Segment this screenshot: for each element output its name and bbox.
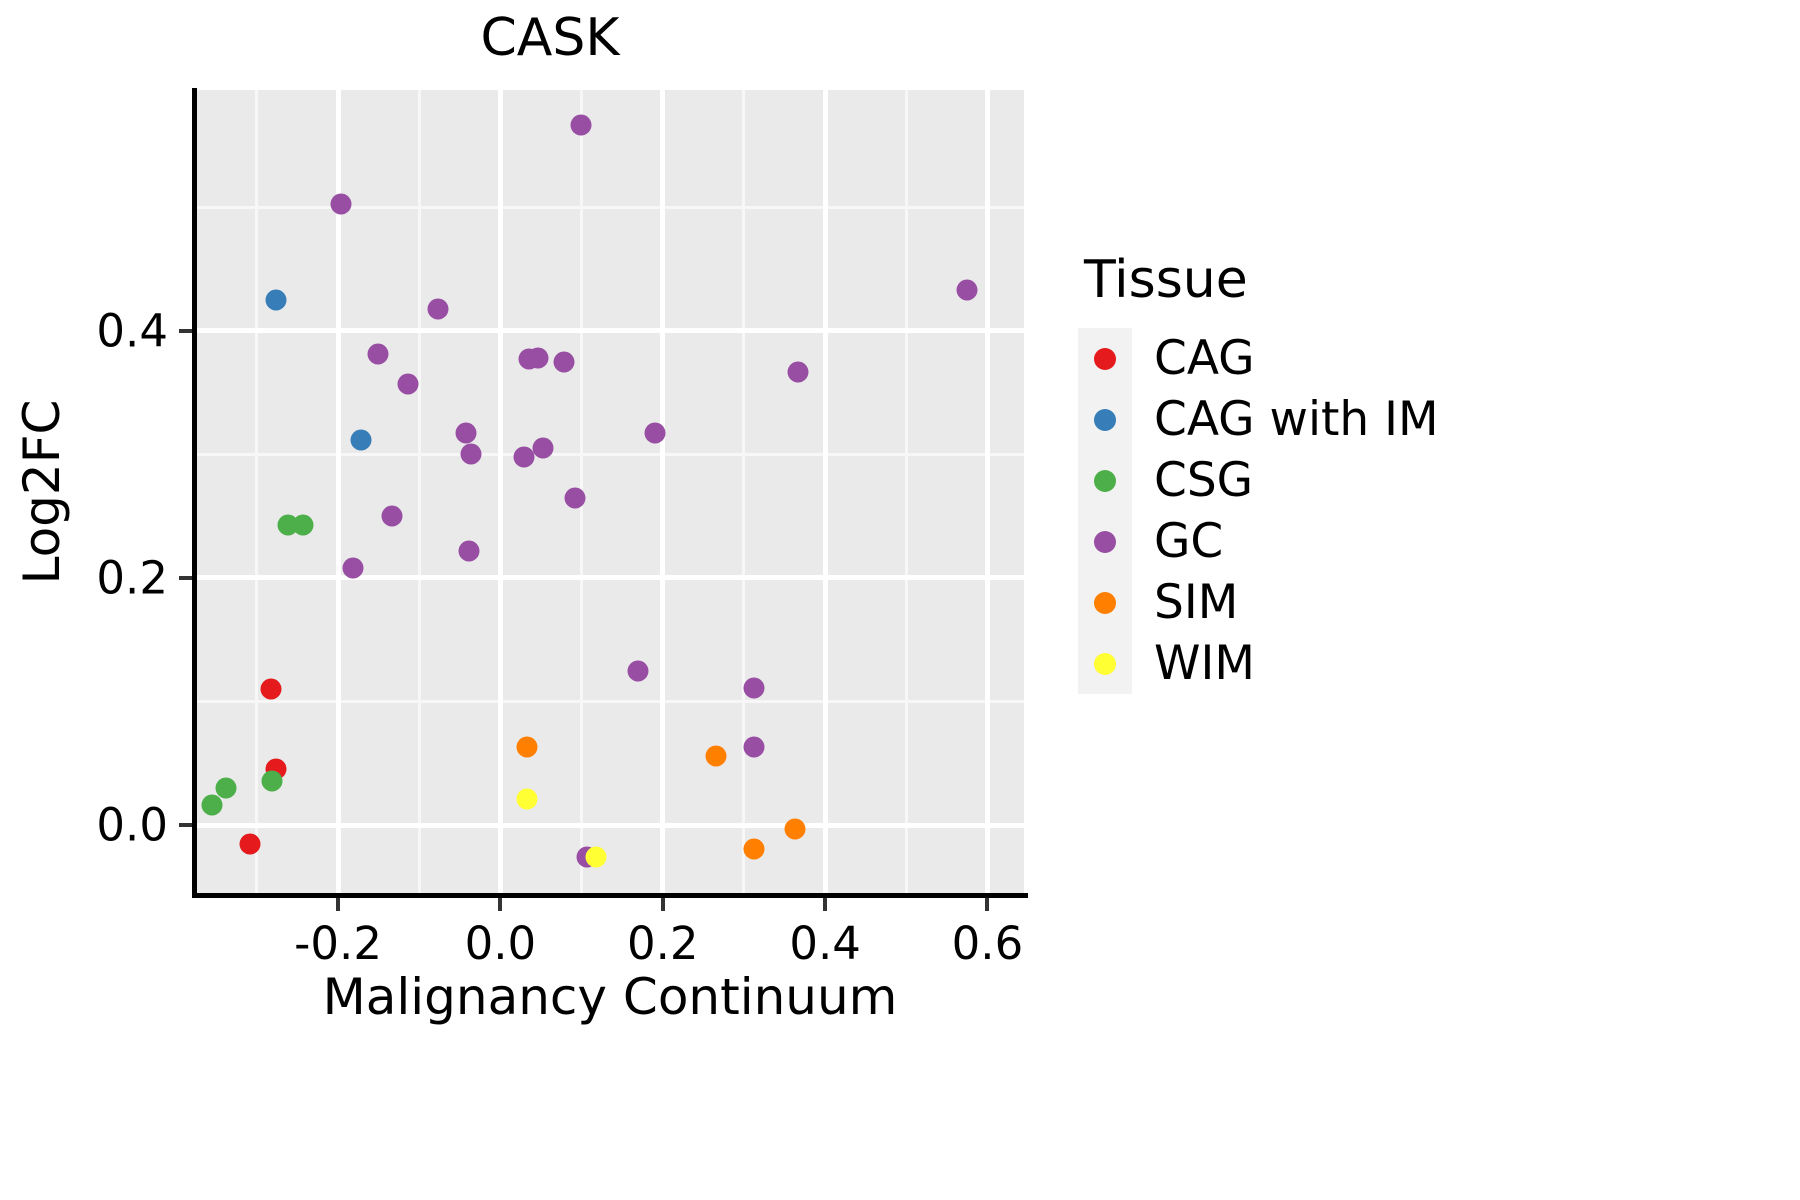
scatter-point <box>455 423 476 444</box>
legend-dot-icon <box>1094 470 1116 492</box>
y-tick-mark <box>179 823 192 827</box>
scatter-point <box>705 745 726 766</box>
gridline-major-vertical <box>498 90 503 893</box>
legend-item-cag-with-im[interactable]: CAG with IM <box>1078 389 1578 450</box>
gridline-major-vertical <box>823 90 828 893</box>
scatter-point <box>262 770 283 791</box>
legend-item-label: GC <box>1154 518 1223 565</box>
legend-item-label: CAG with IM <box>1154 396 1439 443</box>
x-tick-label: 0.4 <box>789 917 861 970</box>
scatter-point <box>527 348 548 369</box>
scatter-point <box>513 446 534 467</box>
scatter-point <box>586 847 607 868</box>
scatter-point <box>644 423 665 444</box>
scatter-point <box>957 280 978 301</box>
legend-title: Tissue <box>1084 250 1578 310</box>
legend-item-sim[interactable]: SIM <box>1078 572 1578 633</box>
legend-item-wim[interactable]: WIM <box>1078 633 1578 694</box>
x-axis-label: Malignancy Continuum <box>196 968 1024 1026</box>
legend: Tissue CAGCAG with IMCSGGCSIMWIM <box>1078 250 1578 694</box>
legend-dot-icon <box>1094 531 1116 553</box>
gridline-minor-horizontal <box>196 700 1024 703</box>
gridline-minor-horizontal <box>196 206 1024 209</box>
scatter-point <box>785 818 806 839</box>
scatter-point <box>239 833 260 854</box>
y-tick-label: 0.4 <box>96 304 168 357</box>
legend-item-label: CSG <box>1154 457 1253 504</box>
scatter-point <box>461 444 482 465</box>
scatter-point <box>517 737 538 758</box>
x-tick-mark <box>823 898 827 911</box>
gridline-major-horizontal <box>196 328 1024 333</box>
y-tick-mark <box>179 576 192 580</box>
x-tick-label: 0.0 <box>465 917 537 970</box>
scatter-point <box>342 558 363 579</box>
gridline-minor-vertical <box>418 90 421 893</box>
y-axis-label-wrapper: Log2FC <box>12 90 72 893</box>
legend-dot-icon <box>1094 409 1116 431</box>
y-axis-label: Log2FC <box>13 399 71 584</box>
plot-panel <box>196 90 1024 893</box>
legend-key-swatch <box>1078 450 1132 511</box>
scatter-point <box>427 298 448 319</box>
x-tick-label: 0.2 <box>627 917 699 970</box>
scatter-point <box>350 429 371 450</box>
scatter-point <box>202 795 223 816</box>
legend-dot-icon <box>1094 592 1116 614</box>
y-tick-label: 0.2 <box>96 551 168 604</box>
x-tick-mark <box>985 898 989 911</box>
scatter-point <box>458 540 479 561</box>
gridline-minor-vertical <box>742 90 745 893</box>
scatter-point <box>565 487 586 508</box>
scatter-point <box>553 351 574 372</box>
y-tick-label: 0.0 <box>96 799 168 852</box>
scatter-point <box>570 114 591 135</box>
scatter-point <box>265 290 286 311</box>
scatter-point <box>744 737 765 758</box>
page-title: CASK <box>0 8 1100 68</box>
scatter-point <box>743 677 764 698</box>
gridline-minor-horizontal <box>196 453 1024 456</box>
x-tick-mark <box>498 898 502 911</box>
legend-key-swatch <box>1078 389 1132 450</box>
x-tick-mark <box>661 898 665 911</box>
gridline-major-horizontal <box>196 575 1024 580</box>
scatter-point <box>397 374 418 395</box>
gridline-major-horizontal <box>196 823 1024 828</box>
y-tick-mark <box>179 329 192 333</box>
legend-dot-icon <box>1094 348 1116 370</box>
scatter-point <box>517 789 538 810</box>
legend-item-cag[interactable]: CAG <box>1078 328 1578 389</box>
scatter-point <box>382 506 403 527</box>
gridline-major-vertical <box>660 90 665 893</box>
scatter-point <box>216 777 237 798</box>
legend-item-label: WIM <box>1154 640 1255 687</box>
scatter-point <box>533 438 554 459</box>
gridline-minor-vertical <box>255 90 258 893</box>
scatter-point <box>293 514 314 535</box>
scatter-point <box>788 361 809 382</box>
legend-key-swatch <box>1078 328 1132 389</box>
x-tick-label: 0.6 <box>952 917 1024 970</box>
legend-key-swatch <box>1078 511 1132 572</box>
x-axis-line <box>192 893 1028 898</box>
x-tick-mark <box>336 898 340 911</box>
chart-root: CASK -0.20.00.20.40.6 0.00.20.4 Malignan… <box>0 0 1800 1200</box>
scatter-point <box>260 679 281 700</box>
legend-dot-icon <box>1094 653 1116 675</box>
legend-items: CAGCAG with IMCSGGCSIMWIM <box>1078 328 1578 694</box>
legend-key-swatch <box>1078 633 1132 694</box>
scatter-point <box>367 344 388 365</box>
legend-key-swatch <box>1078 572 1132 633</box>
scatter-point <box>331 193 352 214</box>
gridline-minor-vertical <box>905 90 908 893</box>
x-tick-label: -0.2 <box>294 917 382 970</box>
gridline-major-vertical <box>985 90 990 893</box>
legend-item-label: CAG <box>1154 335 1255 382</box>
scatter-point <box>628 660 649 681</box>
scatter-point <box>744 838 765 859</box>
legend-item-label: SIM <box>1154 579 1238 626</box>
y-axis-line <box>192 88 197 895</box>
legend-item-csg[interactable]: CSG <box>1078 450 1578 511</box>
legend-item-gc[interactable]: GC <box>1078 511 1578 572</box>
